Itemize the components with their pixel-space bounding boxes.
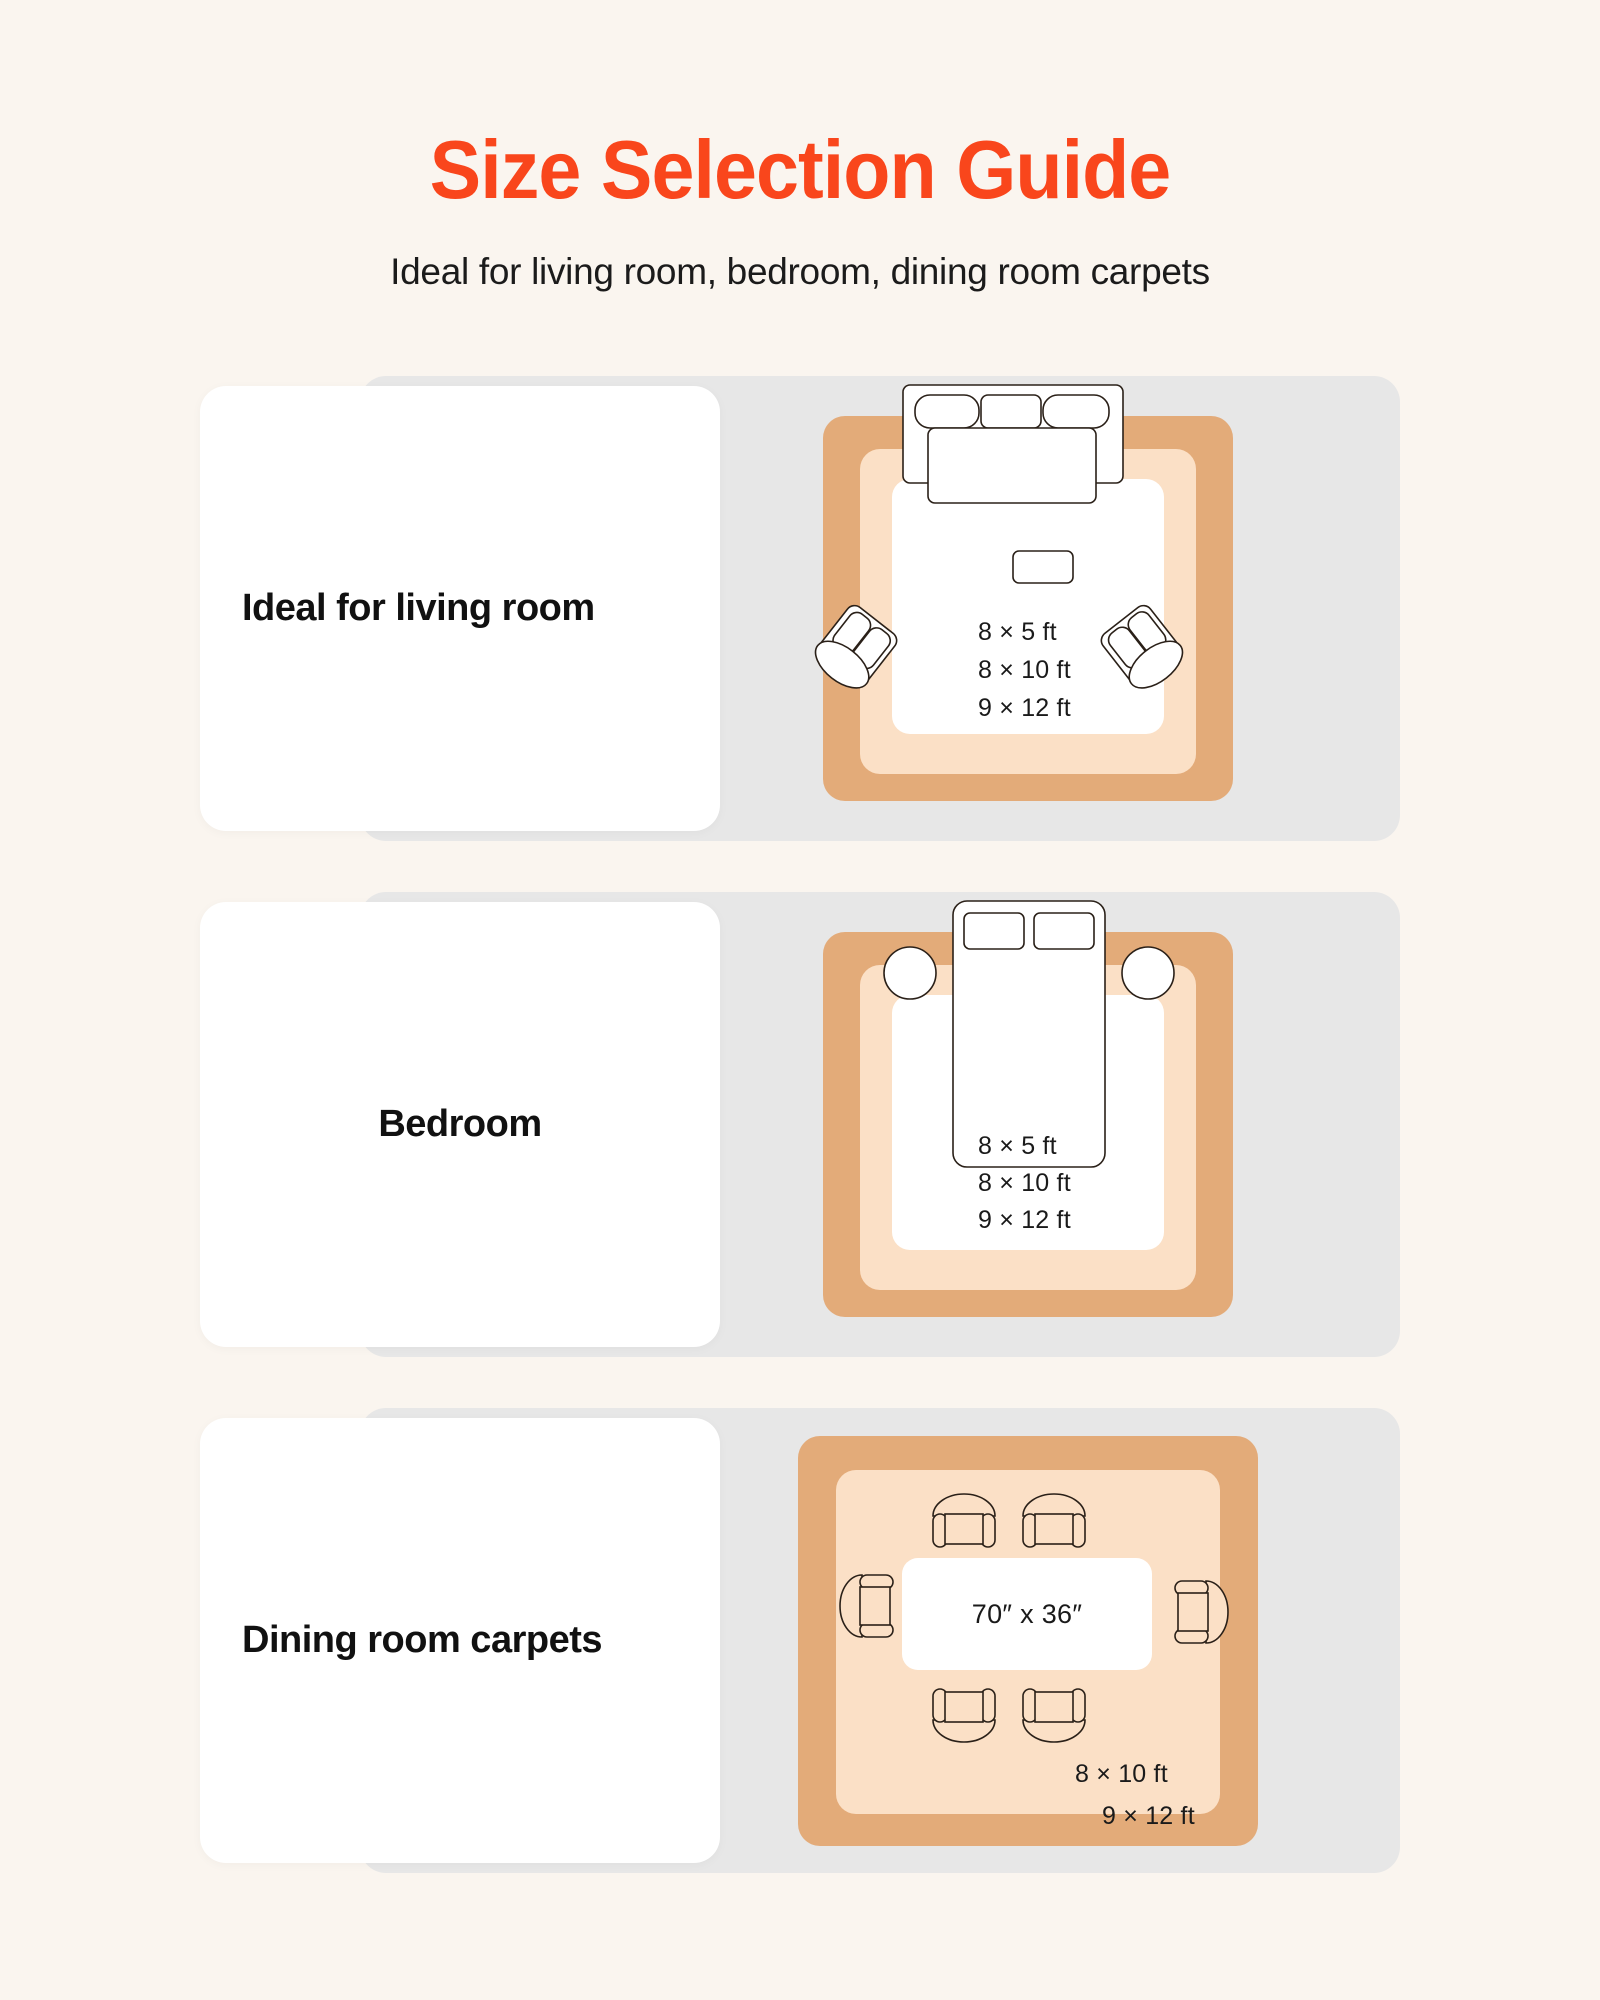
card-label-box: Ideal for living room bbox=[200, 386, 720, 831]
size-label-9x12: 9 × 12 ft bbox=[978, 694, 1071, 723]
pillow-left bbox=[964, 913, 1024, 949]
card-label-box: Bedroom bbox=[200, 902, 720, 1347]
page-subtitle: Ideal for living room, bedroom, dining r… bbox=[0, 211, 1600, 290]
card-label-box: Dining room carpets bbox=[200, 1418, 720, 1863]
dining-chair-top-2-icon bbox=[1018, 1490, 1090, 1550]
dining-table-icon: 70″ x 36″ bbox=[902, 1558, 1152, 1670]
size-label-8x10: 8 × 10 ft bbox=[1075, 1760, 1168, 1789]
coffee-table-icon bbox=[1012, 550, 1074, 584]
armchair-right-icon bbox=[1100, 604, 1192, 700]
card-title-living-room: Ideal for living room bbox=[242, 587, 595, 630]
size-label-9x12: 9 × 12 ft bbox=[978, 1206, 1071, 1235]
card-title-bedroom: Bedroom bbox=[242, 1103, 720, 1146]
dining-chair-side-left-icon bbox=[830, 1576, 890, 1648]
dining-chair-bottom-1-icon bbox=[928, 1686, 1000, 1746]
size-label-8x5: 8 × 5 ft bbox=[978, 618, 1057, 647]
room-diagram-dining-room: 70″ x 36″ 8 × 10 ft 9 × 12 ft bbox=[720, 1408, 1400, 1873]
size-label-8x10: 8 × 10 ft bbox=[978, 1169, 1071, 1198]
dining-chair-bottom-2-icon bbox=[1018, 1686, 1090, 1746]
table-dimension-label: 70″ x 36″ bbox=[972, 1599, 1082, 1630]
nightstand-left-icon bbox=[882, 945, 938, 1001]
dining-chair-top-1-icon bbox=[928, 1490, 1000, 1550]
card-title-dining-room: Dining room carpets bbox=[242, 1619, 602, 1662]
size-guide-card-dining-room[interactable]: Dining room carpets bbox=[200, 1408, 1400, 1873]
page-header: Size Selection Guide Ideal for living ro… bbox=[0, 0, 1600, 290]
page-title: Size Selection Guide bbox=[56, 128, 1544, 211]
dining-chair-side-right-icon bbox=[1160, 1576, 1220, 1648]
bed-icon bbox=[952, 900, 1106, 1168]
size-guide-card-living-room[interactable]: Ideal for living room bbox=[200, 376, 1400, 841]
sofa-icon bbox=[902, 384, 1124, 512]
room-diagram-bedroom: 8 × 5 ft 8 × 10 ft 9 × 12 ft bbox=[720, 892, 1400, 1357]
size-guide-card-list: Ideal for living room bbox=[0, 376, 1600, 1873]
size-label-9x12: 9 × 12 ft bbox=[1102, 1802, 1195, 1831]
size-label-8x5: 8 × 5 ft bbox=[978, 1132, 1057, 1161]
nightstand-right-icon bbox=[1120, 945, 1176, 1001]
armchair-left-icon bbox=[806, 604, 898, 700]
size-label-8x10: 8 × 10 ft bbox=[978, 656, 1071, 685]
room-diagram-living-room: 8 × 5 ft 8 × 10 ft 9 × 12 ft bbox=[720, 376, 1400, 841]
size-guide-card-bedroom[interactable]: Bedroom bbox=[200, 892, 1400, 1357]
pillow-right bbox=[1034, 913, 1094, 949]
